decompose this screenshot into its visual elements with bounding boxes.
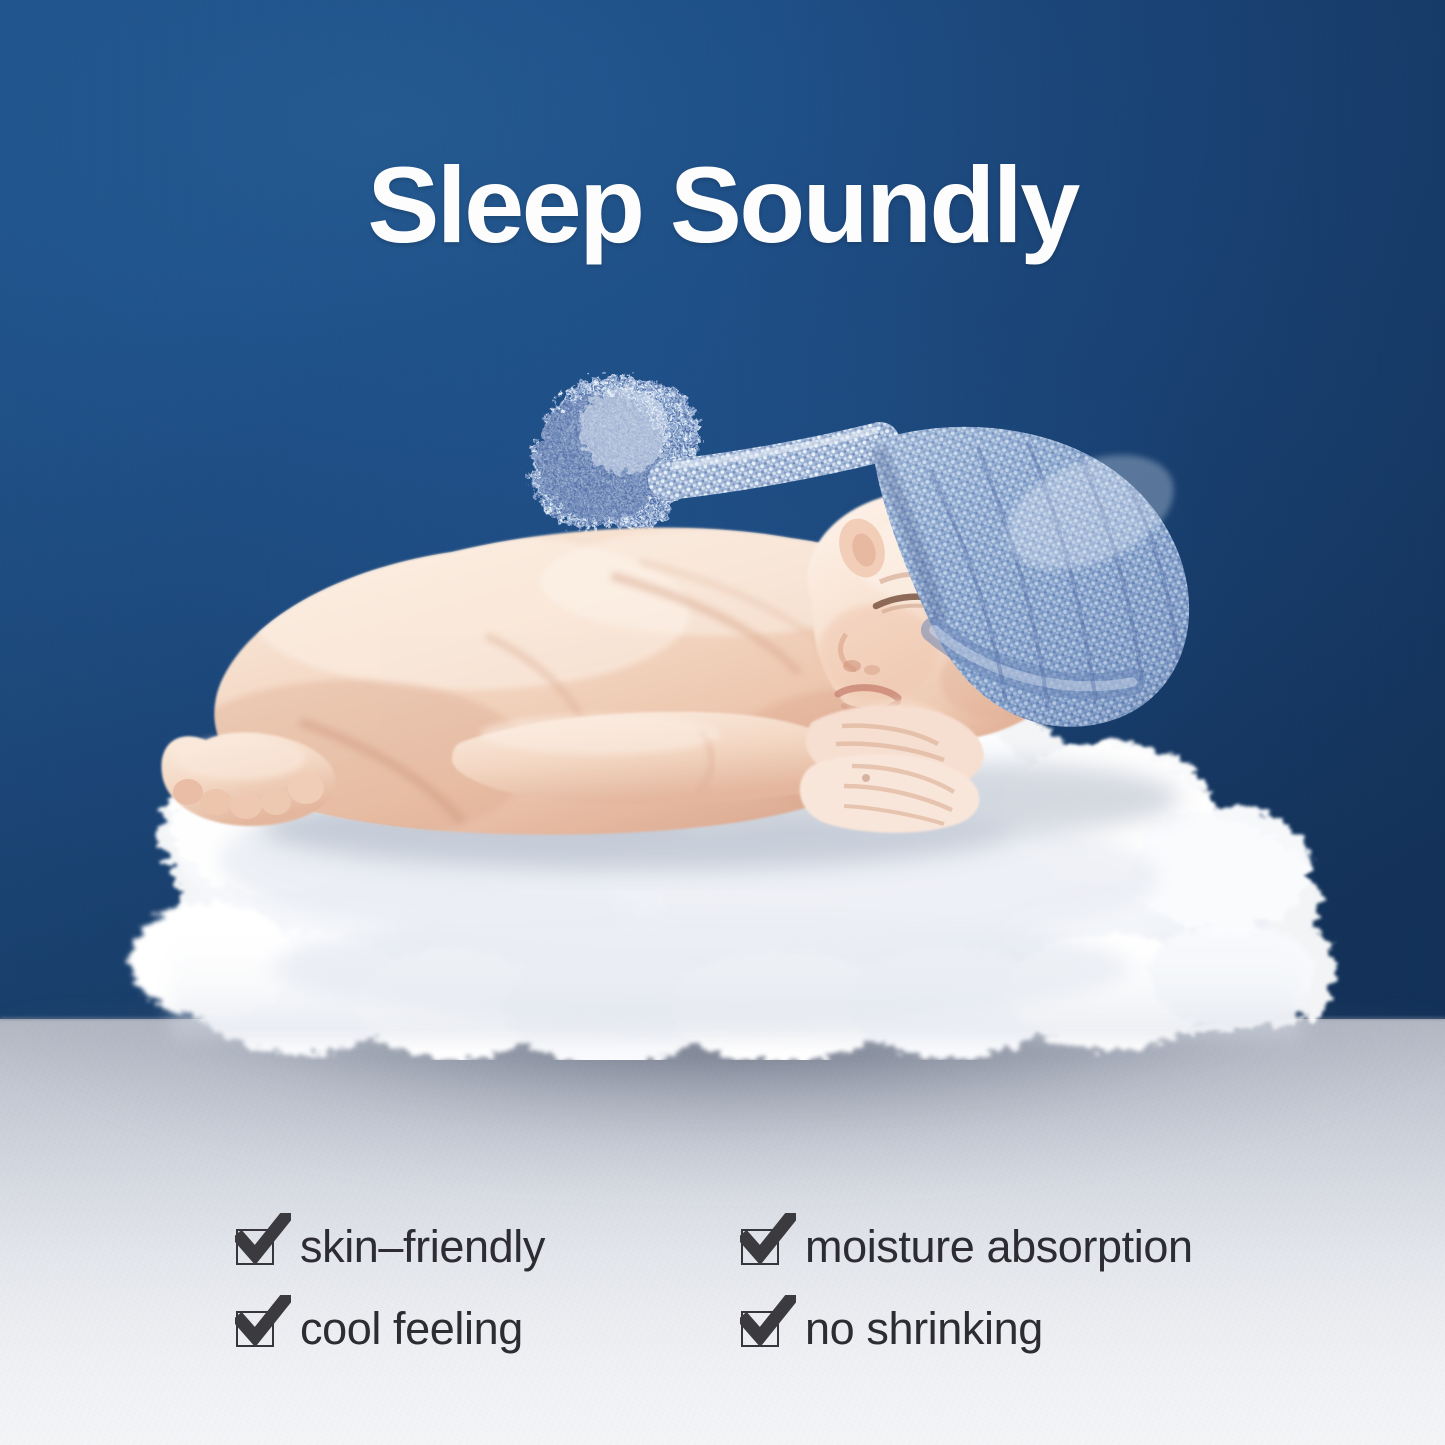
checkbox-checked-icon[interactable] [236, 1225, 278, 1267]
feature-label: cool feeling [300, 1306, 523, 1351]
feature-item-no-shrinking[interactable]: no shrinking [741, 1306, 1246, 1351]
check-mark-icon [235, 1213, 291, 1265]
product-marketing-poster: Sleep Soundly [0, 0, 1445, 1445]
check-mark-icon [740, 1295, 796, 1347]
baby-illustration [0, 330, 1445, 890]
feature-item-skin-friendly[interactable]: skin–friendly [236, 1224, 741, 1269]
page-title: Sleep Soundly [0, 150, 1445, 260]
checkbox-checked-icon[interactable] [741, 1225, 783, 1267]
feature-item-moisture-absorption[interactable]: moisture absorption [741, 1224, 1246, 1269]
checkbox-checked-icon[interactable] [741, 1307, 783, 1349]
feature-label: moisture absorption [805, 1224, 1193, 1269]
feature-item-cool-feeling[interactable]: cool feeling [236, 1306, 741, 1351]
check-mark-icon [740, 1213, 796, 1265]
hat-pompom [530, 376, 700, 530]
checkbox-checked-icon[interactable] [236, 1307, 278, 1349]
feature-label: skin–friendly [300, 1224, 545, 1269]
check-mark-icon [235, 1295, 291, 1347]
feature-checklist: skin–friendly moisture absorption cool f… [236, 1205, 1246, 1369]
sleeping-baby-photo [0, 330, 1445, 890]
feature-label: no shrinking [805, 1306, 1043, 1351]
cloud-underside-shade [170, 920, 1300, 1040]
